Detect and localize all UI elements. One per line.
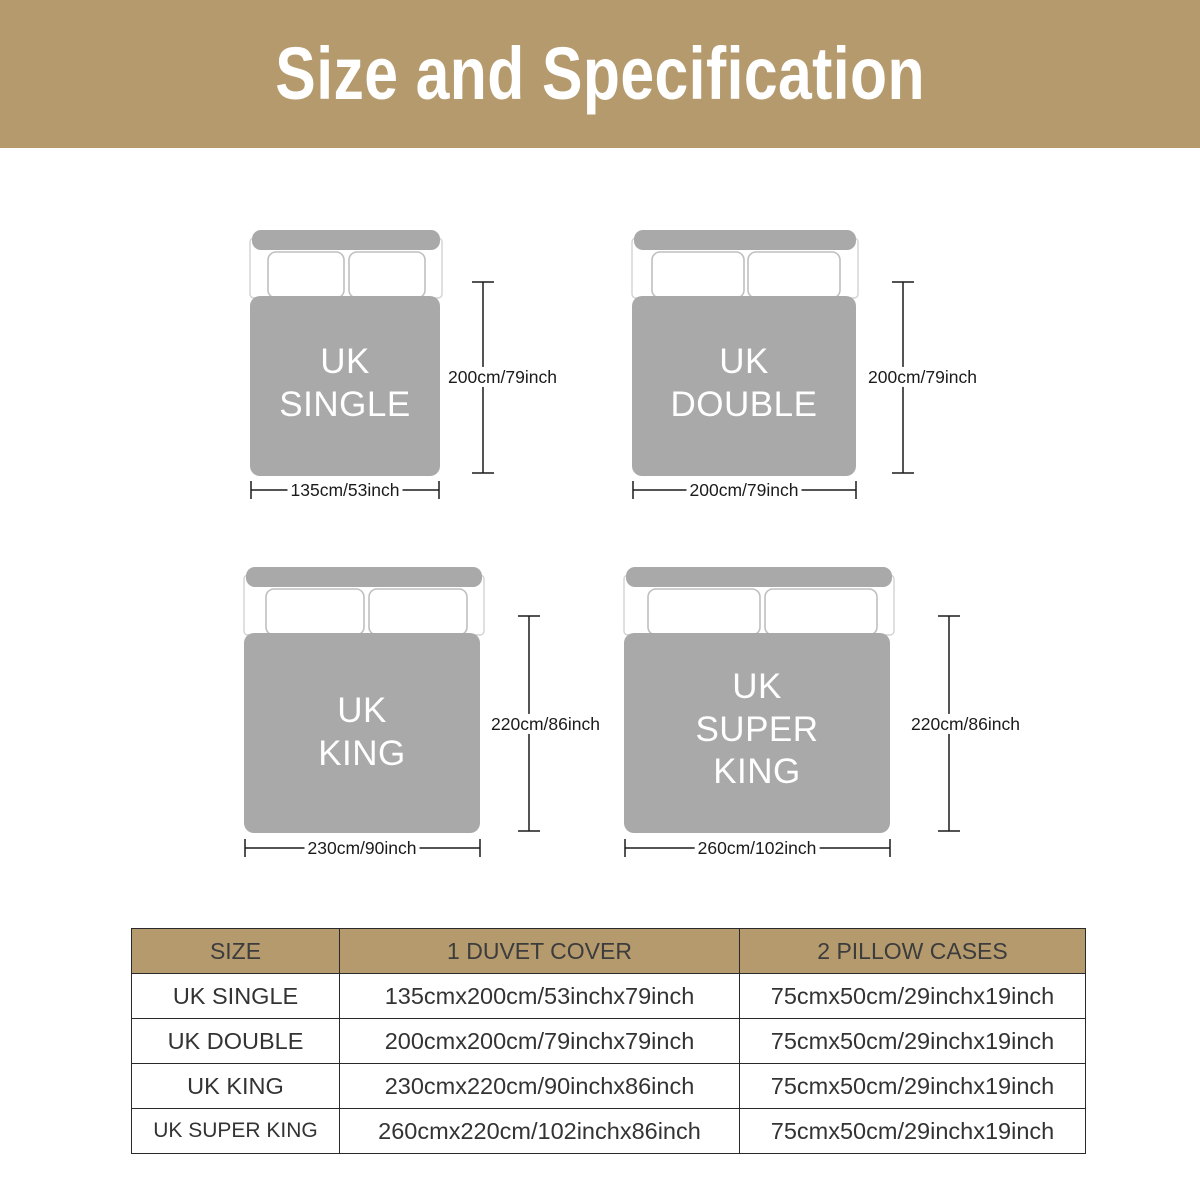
cell-duvet-cover: 230cmx220cm/90inchx86inch [340, 1064, 740, 1109]
cell-size: UK SUPER KING [132, 1109, 340, 1154]
cell-duvet-cover: 200cmx200cm/79inchx79inch [340, 1019, 740, 1064]
cell-duvet-cover: 135cmx200cm/53inchx79inch [340, 974, 740, 1019]
dimension-height-uk-king: 220cm/86inch [488, 714, 603, 734]
specification-table-container: SIZE 1 DUVET COVER 2 PILLOW CASES UK SIN… [131, 928, 1070, 1154]
column-header-pillow-cases: 2 PILLOW CASES [740, 929, 1086, 974]
cell-pillow-cases: 75cmx50cm/29inchx19inch [740, 1064, 1086, 1109]
column-header-duvet-cover: 1 DUVET COVER [340, 929, 740, 974]
table-row: UK SINGLE 135cmx200cm/53inchx79inch 75cm… [132, 974, 1086, 1019]
dimension-width-uk-super-king: 260cm/102inch [695, 838, 820, 858]
table-row: UK SUPER KING 260cmx220cm/102inchx86inch… [132, 1109, 1086, 1154]
table-row: UK KING 230cmx220cm/90inchx86inch 75cmx5… [132, 1064, 1086, 1109]
column-header-size: SIZE [132, 929, 340, 974]
dimension-height-uk-single: 200cm/79inch [445, 367, 560, 387]
specification-table: SIZE 1 DUVET COVER 2 PILLOW CASES UK SIN… [131, 928, 1086, 1154]
cell-duvet-cover: 260cmx220cm/102inchx86inch [340, 1109, 740, 1154]
dimension-width-uk-double: 200cm/79inch [687, 480, 802, 500]
dimension-width-uk-king: 230cm/90inch [305, 838, 420, 858]
bed-label-uk-double: UK DOUBLE [632, 341, 856, 426]
cell-size: UK DOUBLE [132, 1019, 340, 1064]
cell-size: UK KING [132, 1064, 340, 1109]
dimension-width-uk-single: 135cm/53inch [288, 480, 403, 500]
bed-label-uk-super-king: UK SUPER KING [624, 666, 890, 794]
bed-figure-uk-king: UK KING 220cm/86inch 230cm/90inch [230, 563, 630, 863]
bed-diagram-area: UK SINGLE 200cm/79inch 135cm/53inch UK D… [0, 148, 1200, 920]
cell-pillow-cases: 75cmx50cm/29inchx19inch [740, 974, 1086, 1019]
bed-label-uk-single: UK SINGLE [250, 341, 440, 426]
table-header-row: SIZE 1 DUVET COVER 2 PILLOW CASES [132, 929, 1086, 974]
bed-figure-uk-super-king: UK SUPER KING 220cm/86inch 260cm/102inch [610, 563, 1050, 863]
bed-label-uk-king: UK KING [244, 690, 480, 775]
header-banner: Size and Specification [0, 0, 1200, 148]
dimension-height-uk-super-king: 220cm/86inch [908, 714, 1023, 734]
cell-pillow-cases: 75cmx50cm/29inchx19inch [740, 1109, 1086, 1154]
dimension-height-uk-double: 200cm/79inch [865, 367, 980, 387]
cell-pillow-cases: 75cmx50cm/29inchx19inch [740, 1019, 1086, 1064]
cell-size: UK SINGLE [132, 974, 340, 1019]
table-row: UK DOUBLE 200cmx200cm/79inchx79inch 75cm… [132, 1019, 1086, 1064]
bed-figure-uk-double: UK DOUBLE 200cm/79inch 200cm/79inch [618, 226, 1018, 516]
page-title: Size and Specification [275, 37, 925, 111]
bed-figure-uk-single: UK SINGLE 200cm/79inch 135cm/53inch [236, 226, 596, 516]
